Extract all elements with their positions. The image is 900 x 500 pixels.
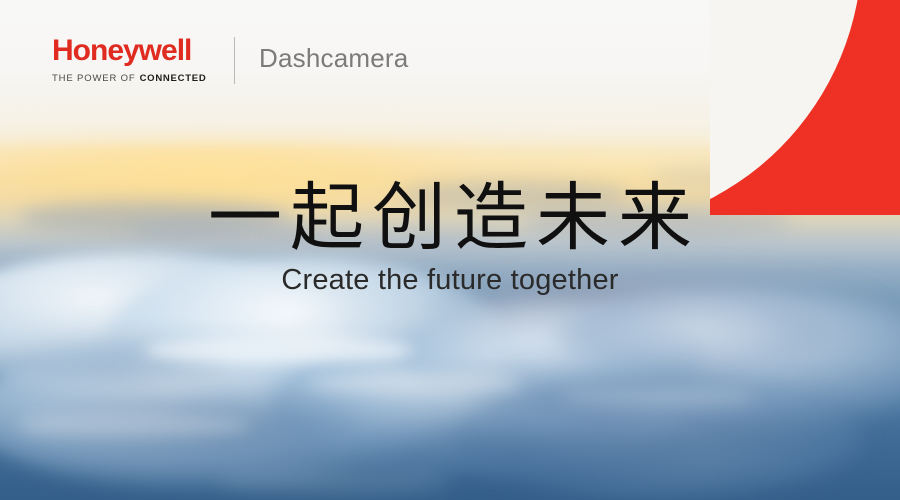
honeywell-wordmark: Honeywell bbox=[52, 36, 212, 66]
hero-subheadline-en: Create the future together bbox=[0, 263, 900, 297]
brand-bar: Honeywell THE POWER OF CONNECTED Dashcam… bbox=[52, 36, 408, 84]
hero-headline-cn: 一起创造未来 bbox=[0, 178, 900, 258]
cloud-depth-vignette bbox=[0, 357, 900, 500]
hero-text-block: 一起创造未来 Create the future together bbox=[0, 178, 900, 297]
product-name: Dashcamera bbox=[259, 43, 408, 73]
honeywell-logo[interactable]: Honeywell THE POWER OF CONNECTED bbox=[52, 36, 212, 84]
tagline-emphasis: CONNECTED bbox=[140, 73, 207, 84]
tagline-prefix: THE POWER OF bbox=[52, 73, 136, 84]
vertical-divider bbox=[234, 37, 235, 84]
honeywell-tagline: THE POWER OF CONNECTED bbox=[52, 73, 212, 84]
banner-canvas: Honeywell THE POWER OF CONNECTED Dashcam… bbox=[0, 0, 900, 500]
